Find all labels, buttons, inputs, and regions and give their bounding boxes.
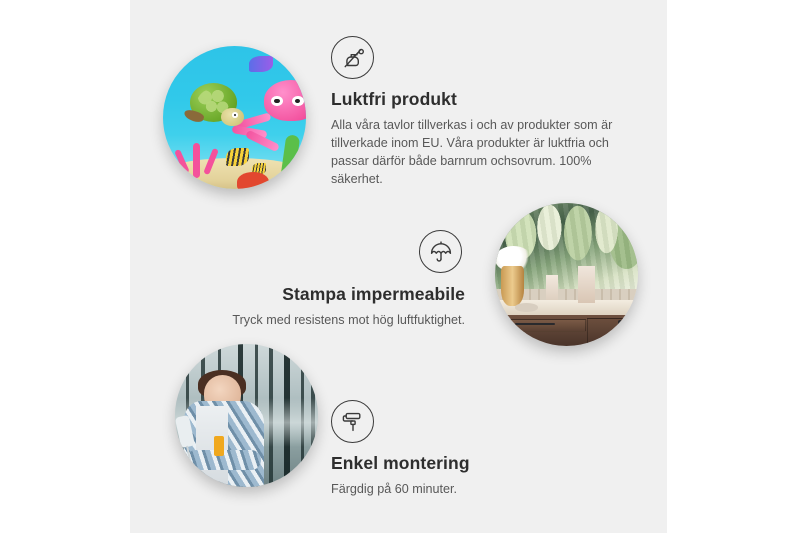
- feature-description: Tryck med resistens mot hög luftfuktighe…: [160, 311, 465, 329]
- vanity-drawer: [504, 319, 586, 332]
- coral-branch: [203, 148, 219, 176]
- octopus: [257, 80, 306, 146]
- feature-odourless: Luktfri produkt Alla våra tavlor tillver…: [331, 36, 631, 188]
- octopus-eye-left: [271, 96, 283, 107]
- feature-title: Stampa impermeabile: [160, 284, 465, 305]
- blue-fish: [249, 56, 273, 72]
- feature-title: Luktfri produkt: [331, 89, 631, 110]
- umbrella-icon: [419, 230, 462, 273]
- paint-roller-icon: [331, 400, 374, 443]
- feature-waterproof: Stampa impermeabile Tryck med resistens …: [160, 230, 465, 329]
- turtle-head: [221, 108, 243, 125]
- turtle-eye: [232, 112, 238, 117]
- yellow-striped-fish: [226, 148, 249, 167]
- feature-description: Färgdig på 60 minuter.: [331, 480, 591, 498]
- gold-vase: [501, 266, 524, 306]
- woman-crossed-arms: [186, 450, 260, 470]
- small-bottle: [546, 275, 557, 301]
- coral: [172, 129, 223, 178]
- feature-title: Enkel montering: [331, 453, 591, 474]
- coral-branch: [193, 143, 200, 178]
- crab: [237, 172, 268, 189]
- soap-dish: [515, 303, 538, 312]
- woman-plaid-shirt: [184, 401, 264, 487]
- aquarium-scene: [163, 46, 306, 189]
- drawer-handle: [515, 323, 555, 325]
- image-woman-with-paint-roller-forest-mural: [175, 344, 318, 487]
- octopus-eye-right: [292, 96, 304, 107]
- promo-banner: Luktfri produkt Alla våra tavlor tillver…: [0, 0, 800, 533]
- bathroom-scene: [495, 203, 638, 346]
- turtle: [183, 83, 249, 132]
- hand-tool: [214, 436, 224, 456]
- no-fragrance-icon: [331, 36, 374, 79]
- feature-description: Alla våra tavlor tillverkas i och av pro…: [331, 116, 623, 188]
- image-bathroom-botanical-wallpaper: [495, 203, 638, 346]
- painter-scene: [175, 344, 318, 487]
- image-underwater-kids-illustration: [163, 46, 306, 189]
- feature-assembly: Enkel montering Färgdig på 60 minuter.: [331, 400, 591, 498]
- vanity-door: [587, 318, 632, 345]
- dispenser-bottle: [578, 266, 595, 303]
- door-handle: [618, 320, 622, 334]
- wooden-vanity: [498, 315, 638, 346]
